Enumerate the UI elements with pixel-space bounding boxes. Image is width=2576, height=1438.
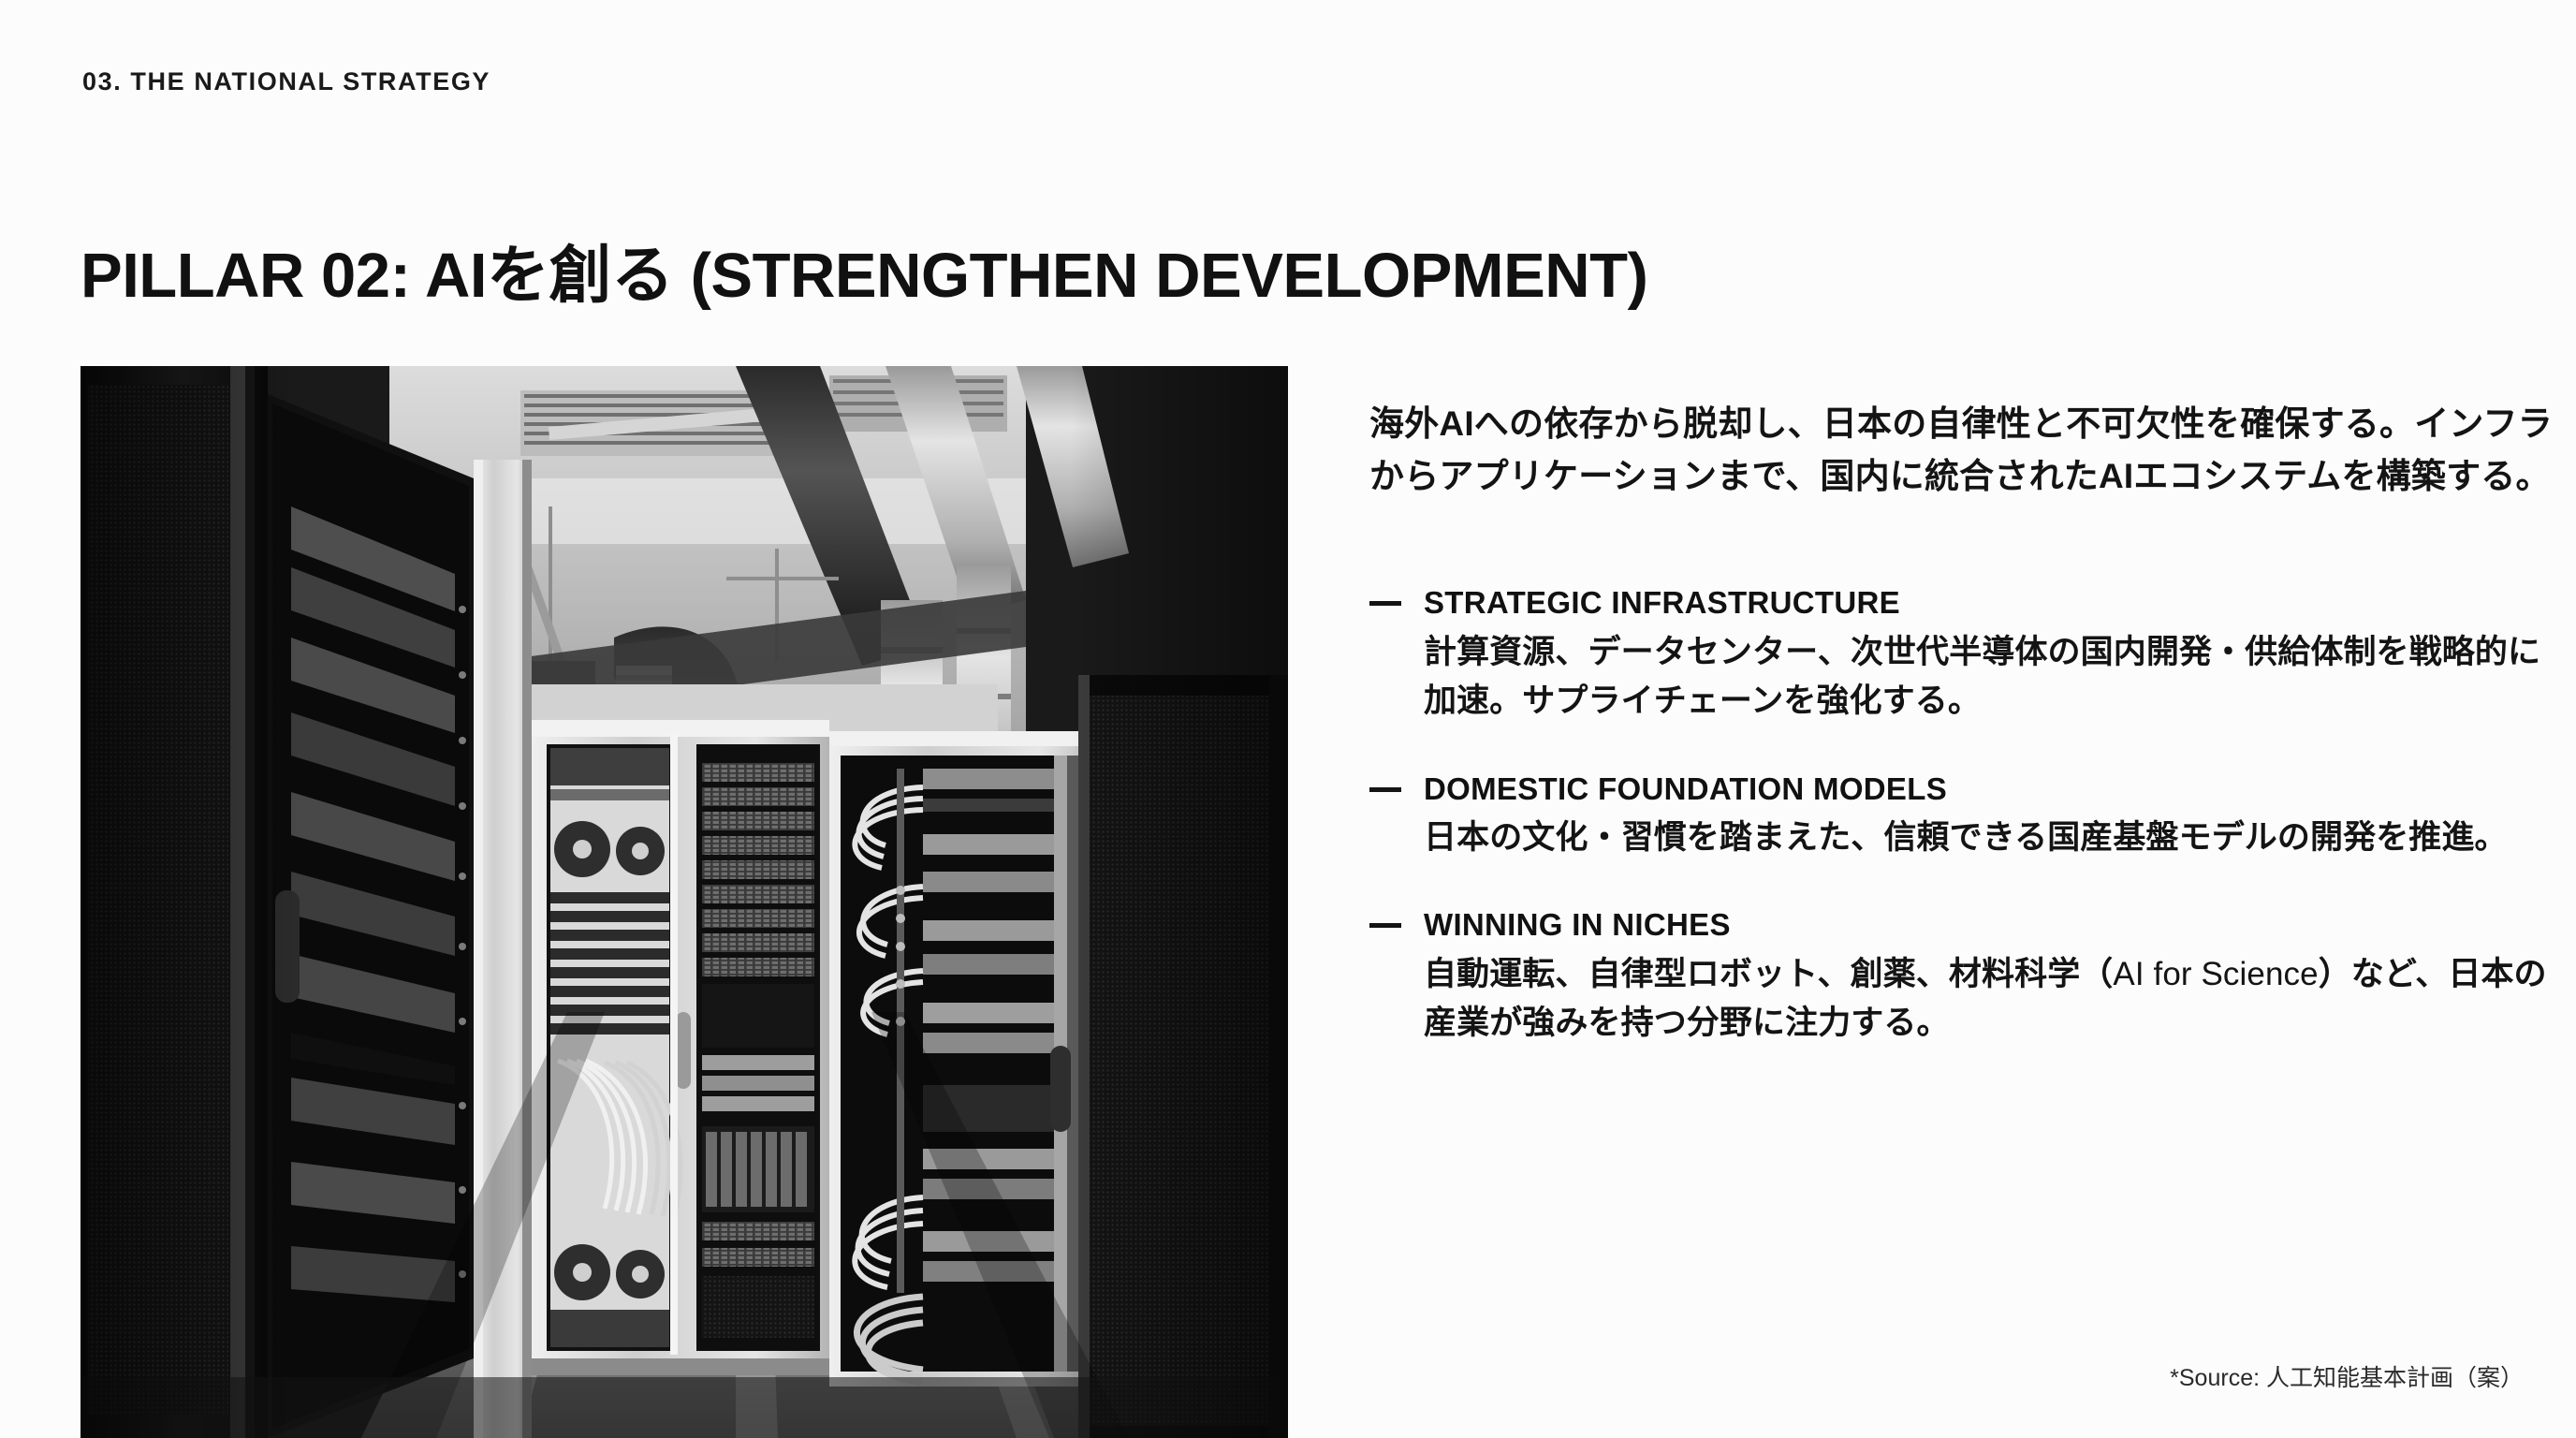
list-item: DOMESTIC FOUNDATION MODELS 日本の文化・習慣を踏まえた… (1369, 770, 2554, 863)
bullet-body: 計算資源、データセンター、次世代半導体の国内開発・供給体制を戦略的に加速。サプラ… (1424, 628, 2554, 726)
bullet-body-emphasis: AI for Science (2113, 956, 2318, 992)
data-center-photo (80, 366, 1288, 1438)
dash-icon (1369, 601, 1401, 606)
slide-root: 03. THE NATIONAL STRATEGY PILLAR 02: AIを… (0, 0, 2576, 1438)
bullet-list: STRATEGIC INFRASTRUCTURE 計算資源、データセンター、次世… (1369, 583, 2554, 1048)
source-footnote: *Source: 人工知能基本計画（案） (2170, 1359, 2524, 1393)
bullet-body: 自動運転、自律型ロボット、創薬、材料科学（AI for Science）など、日… (1424, 950, 2554, 1049)
bullet-heading: STRATEGIC INFRASTRUCTURE (1424, 583, 2554, 622)
page-title: PILLAR 02: AIを創る (STRENGTHEN DEVELOPMENT… (80, 243, 1647, 309)
bullet-heading: DOMESTIC FOUNDATION MODELS (1424, 770, 2554, 808)
intro-paragraph: 海外AIへの依存から脱却し、日本の自律性と不可欠性を確保する。インフラからアプリ… (1369, 398, 2554, 503)
content-column: 海外AIへの依存から脱却し、日本の自律性と不可欠性を確保する。インフラからアプリ… (1369, 363, 2554, 1049)
dash-icon (1369, 923, 1401, 928)
data-center-photo-illustration (80, 366, 1288, 1438)
dash-icon (1369, 787, 1401, 792)
list-item: STRATEGIC INFRASTRUCTURE 計算資源、データセンター、次世… (1369, 583, 2554, 726)
bullet-body-before: 自動運転、自律型ロボット、創薬、材料科学（ (1424, 956, 2113, 992)
section-eyebrow-label: 03. THE NATIONAL STRATEGY (82, 67, 490, 96)
list-item: WINNING IN NICHES 自動運転、自律型ロボット、創薬、材料科学（A… (1369, 905, 2554, 1048)
bullet-heading: WINNING IN NICHES (1424, 905, 2554, 944)
bullet-body: 日本の文化・習慣を踏まえた、信頼できる国産基盤モデルの開発を推進。 (1424, 814, 2554, 863)
